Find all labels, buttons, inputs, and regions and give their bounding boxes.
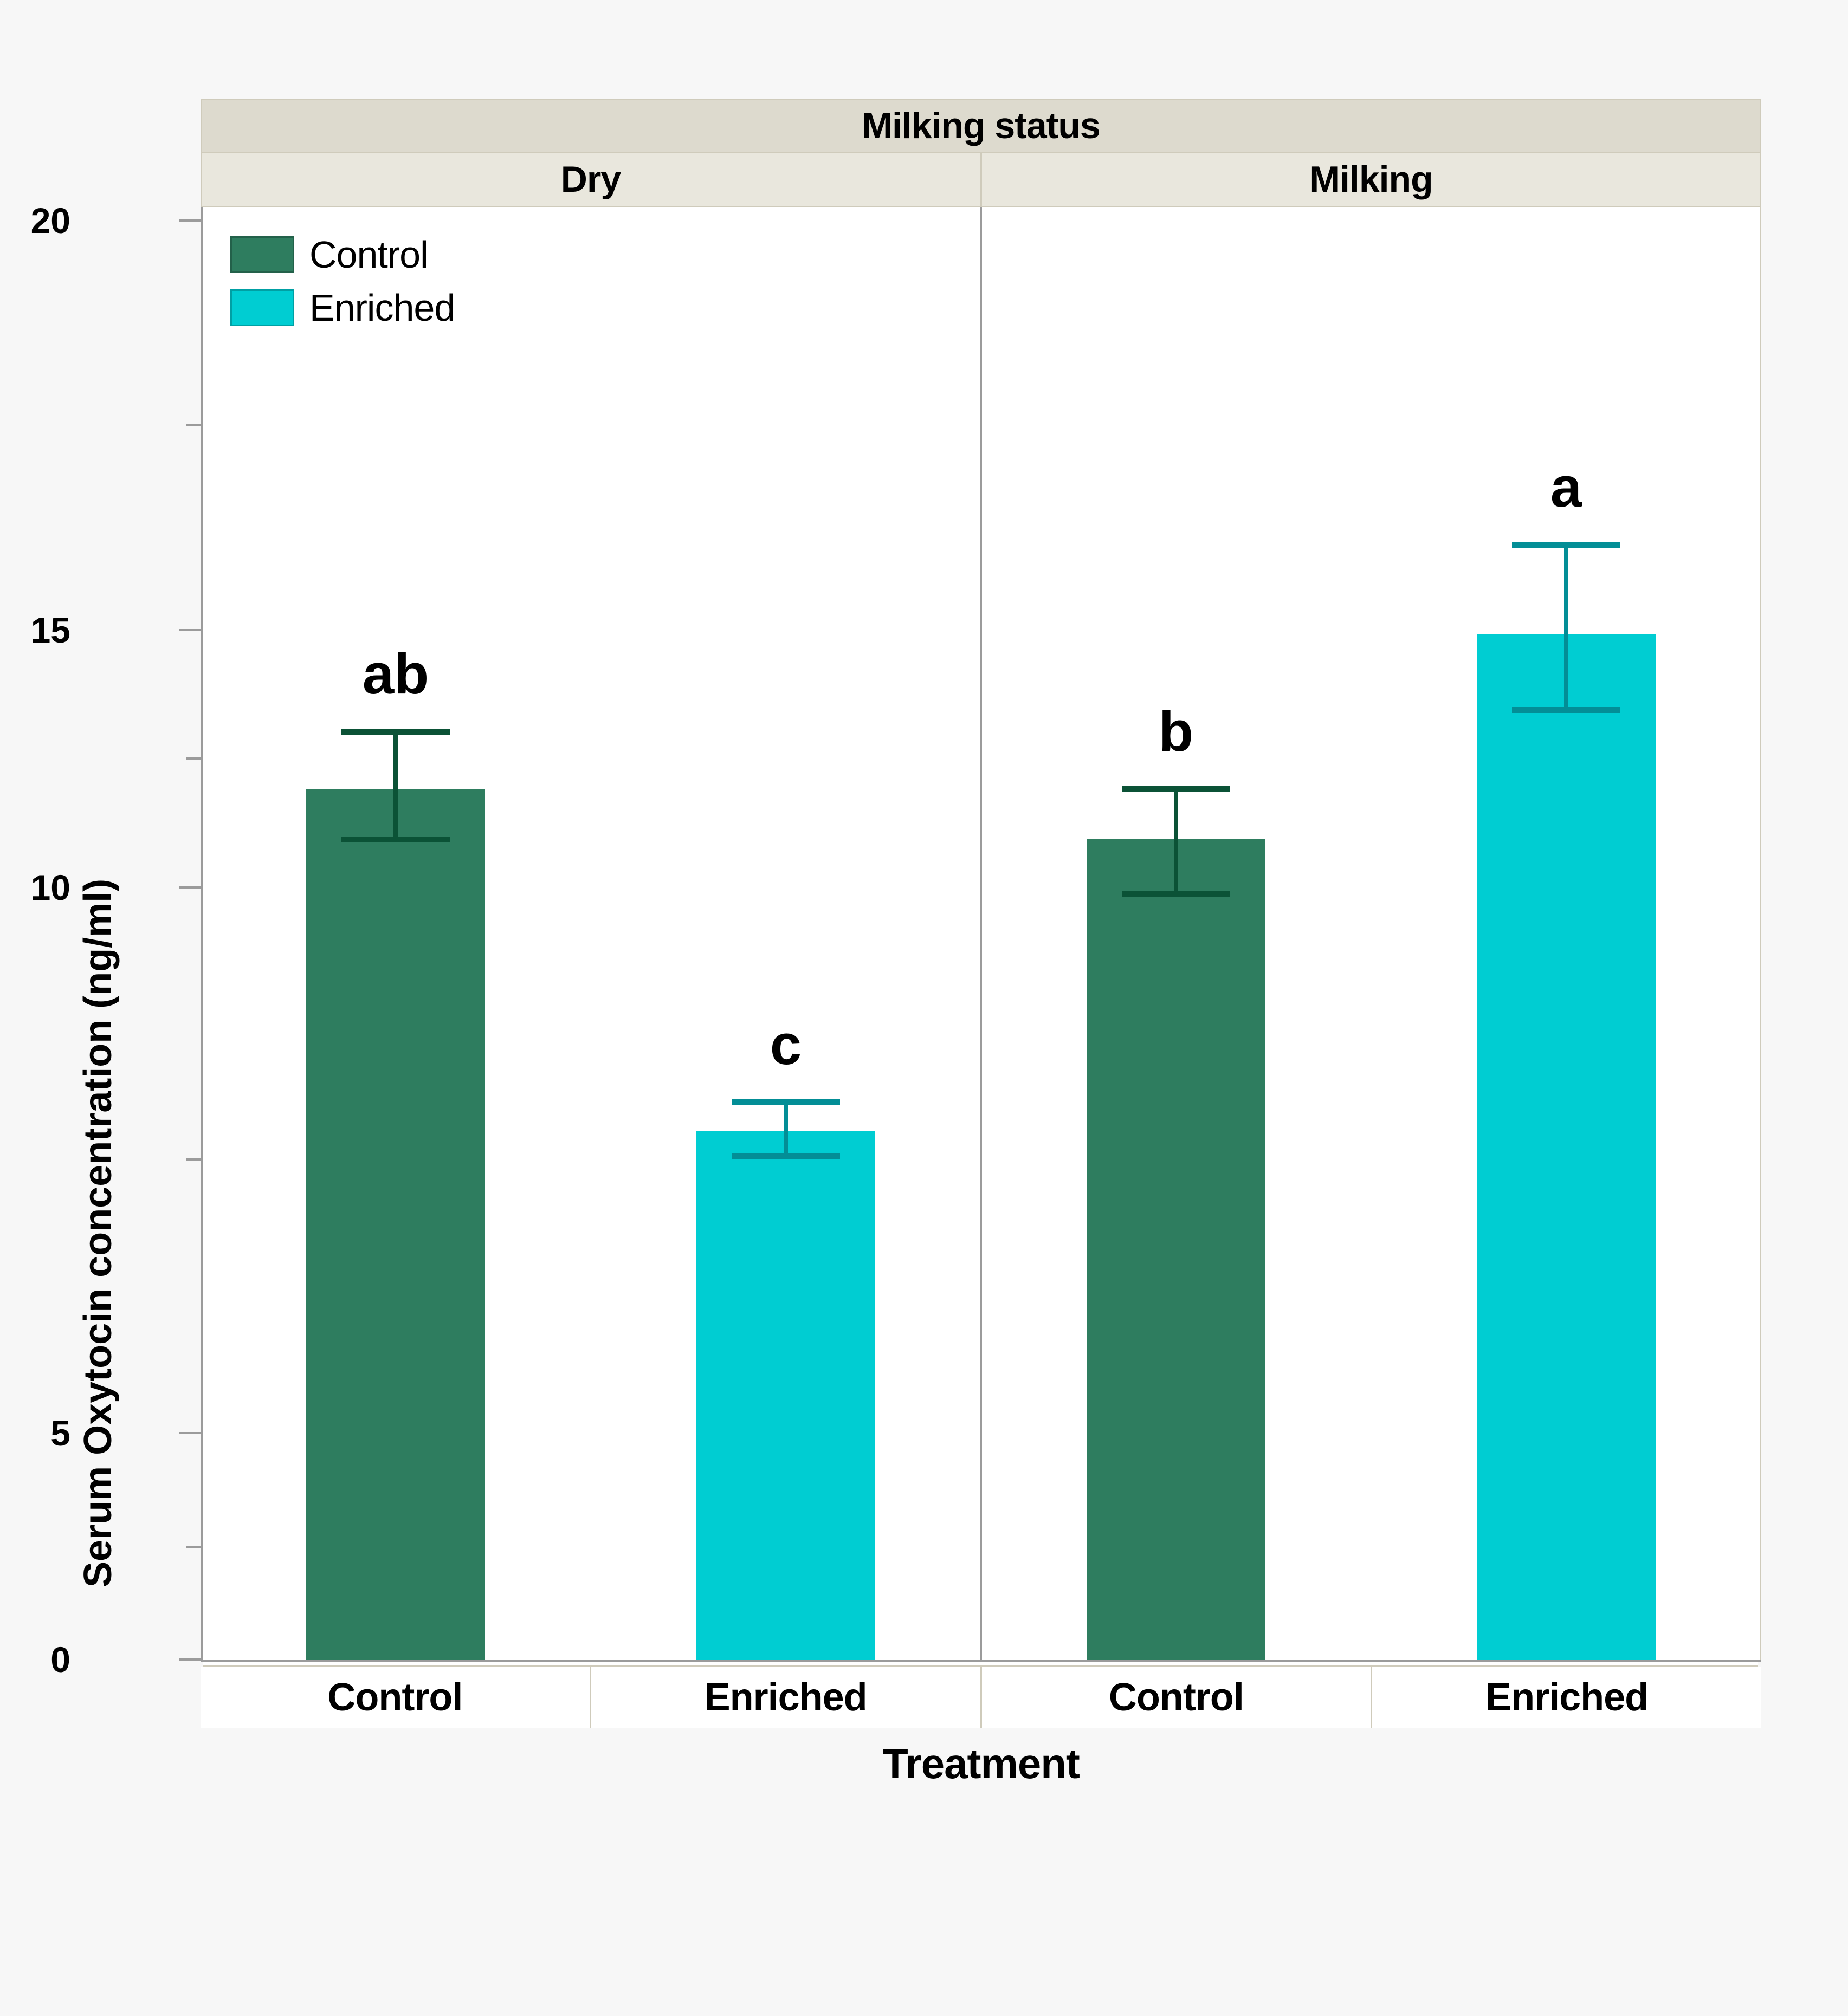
errorbar-cap-lower-milking-enriched: [1512, 707, 1620, 713]
x-axis-title: Treatment: [201, 1739, 1761, 1788]
ytick-label-20: 20: [31, 200, 70, 241]
y-axis-title: Serum Oxytocin concentration (ng/ml): [76, 233, 120, 1587]
ytick-mark-5: [179, 1432, 201, 1434]
facet-strip-levels: Dry Milking: [201, 153, 1761, 207]
facet-strip-title-text: Milking status: [862, 105, 1100, 147]
facet-label-dry: Dry: [201, 153, 981, 207]
facet-label-milking-text: Milking: [1309, 158, 1432, 200]
ytick-mark-10: [179, 886, 201, 889]
legend: Control Enriched: [230, 233, 455, 329]
significance-letter-dry-control: ab: [363, 642, 429, 707]
ytick-mark-0: [179, 1658, 201, 1661]
ytick-mark-17p5: [186, 424, 201, 426]
errorbar-cap-lower-dry-enriched: [732, 1153, 840, 1159]
ytick-mark-2p5: [186, 1546, 201, 1548]
errorbar-stem-dry-control: [393, 731, 398, 839]
errorbar-cap-upper-dry-enriched: [732, 1099, 840, 1105]
significance-letter-milking-control: b: [1159, 699, 1193, 764]
errorbar-cap-lower-milking-control: [1122, 891, 1230, 897]
significance-letter-dry-enriched: c: [770, 1013, 802, 1078]
legend-item-enriched[interactable]: Enriched: [230, 286, 455, 329]
xtick-label-1: Control: [327, 1675, 462, 1720]
ytick-mark-15: [179, 629, 201, 631]
significance-letter-milking-enriched: a: [1550, 455, 1582, 520]
bar-milking-enriched[interactable]: [1477, 634, 1656, 1660]
facet-label-milking: Milking: [981, 153, 1761, 207]
xtick-dry-enriched: Enriched: [591, 1667, 982, 1728]
legend-swatch-enriched: [230, 289, 294, 326]
errorbar-cap-upper-milking-enriched: [1512, 542, 1620, 548]
legend-label-enriched: Enriched: [309, 286, 455, 329]
x-axis-tick-strip: Control Enriched Control Enriched: [201, 1667, 1761, 1728]
ytick-label-0: 0: [50, 1639, 70, 1680]
xtick-label-3: Control: [1109, 1675, 1244, 1720]
facet-label-dry-text: Dry: [561, 158, 621, 200]
xtick-milking-control: Control: [982, 1667, 1373, 1728]
x-axis-line: [201, 1660, 1761, 1662]
errorbar-stem-dry-enriched: [784, 1102, 788, 1156]
ytick-label-10: 10: [31, 867, 70, 908]
xtick-label-4: Enriched: [1485, 1675, 1648, 1720]
bar-dry-enriched[interactable]: [696, 1131, 875, 1660]
facet-divider: [980, 207, 982, 1660]
ytick-label-5: 5: [50, 1412, 70, 1454]
errorbar-cap-lower-dry-control: [341, 837, 450, 842]
errorbar-cap-upper-dry-control: [341, 729, 450, 735]
errorbar-stem-milking-enriched: [1564, 544, 1568, 710]
chart-figure: Milking status Dry Milking 20 15 10 5 0 …: [0, 0, 1848, 2016]
xtick-milking-enriched: Enriched: [1372, 1667, 1761, 1728]
bar-dry-control[interactable]: [306, 789, 485, 1660]
ytick-mark-12p5: [186, 757, 201, 760]
legend-label-control: Control: [309, 233, 428, 276]
ytick-mark-7p5: [186, 1158, 201, 1161]
xtick-dry-control: Control: [201, 1667, 591, 1728]
errorbar-cap-upper-milking-control: [1122, 786, 1230, 792]
bar-milking-control[interactable]: [1087, 839, 1265, 1660]
facet-strip-title: Milking status: [201, 99, 1761, 153]
xtick-label-2: Enriched: [705, 1675, 867, 1720]
ytick-mark-20: [179, 219, 201, 222]
legend-swatch-control: [230, 236, 294, 273]
errorbar-stem-milking-control: [1174, 789, 1178, 893]
x-axis-inner-line: [203, 1662, 1758, 1667]
legend-item-control[interactable]: Control: [230, 233, 455, 276]
ytick-label-15: 15: [31, 610, 70, 651]
